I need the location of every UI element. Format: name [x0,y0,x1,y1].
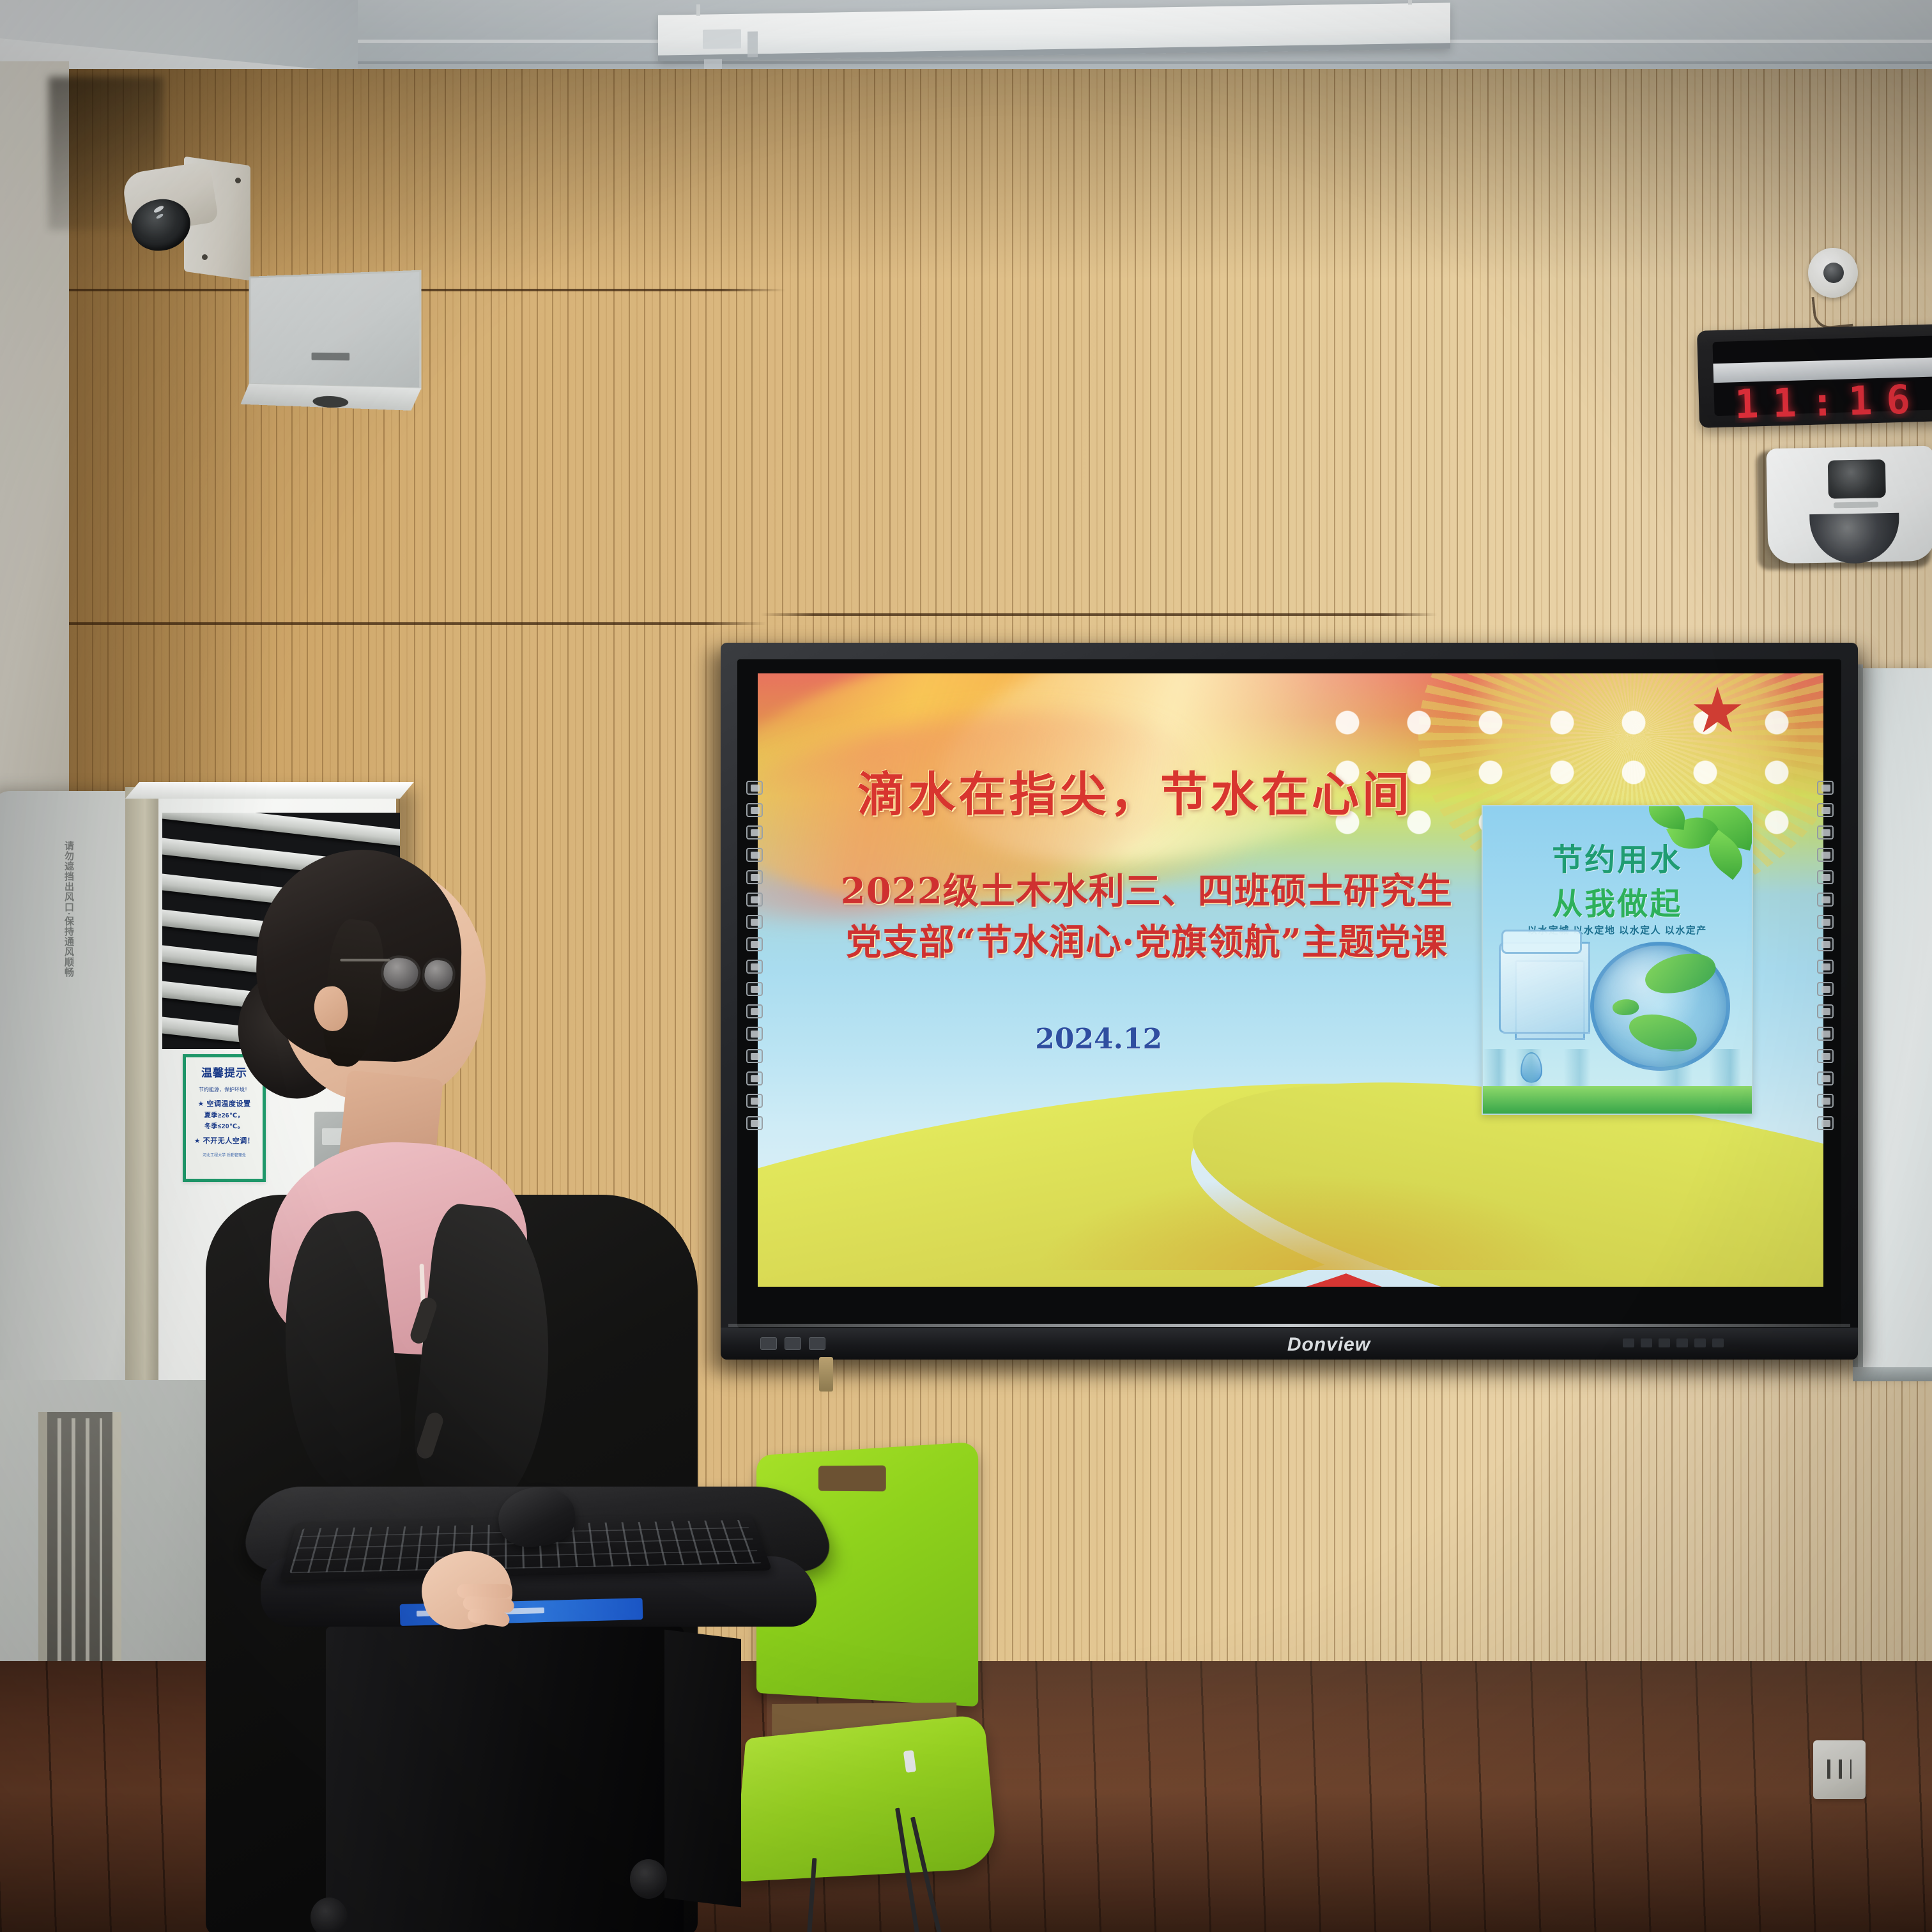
bezel-icon-eraser[interactable] [746,803,763,817]
slide-subtitle-line2: 党支部“节水润心·党旗领航”主题党课 [774,917,1520,969]
bezel-icon-r-pen[interactable] [1817,781,1834,795]
display-port-r-3[interactable] [1659,1338,1670,1347]
motion-sensor-lens [1828,459,1886,499]
bezel-icon-r-page[interactable] [1817,1094,1834,1108]
dome-security-camera [125,152,272,280]
poster-headline-2: 从我做起 [1504,878,1730,923]
display-port-r-1[interactable] [1623,1338,1634,1347]
light-label-primary [703,29,741,49]
glasses-temple [340,959,390,962]
led-clock-time: 11:16 [1734,379,1932,423]
display-port-r-5[interactable] [1694,1338,1706,1347]
light-label-secondary [747,31,758,57]
display-port-r-2[interactable] [1641,1338,1652,1347]
display-screen[interactable]: 滴水在指尖，节水在心间 2022级土木水利三、四班硕士研究生 党支部“节水润心·… [758,673,1823,1287]
slide-title: 滴水在指尖，节水在心间 [794,756,1476,825]
air-conditioner-side-text: 请勿遮挡出风口·保持通风顺畅 [50,841,75,1007]
bezel-icon-r-line-1[interactable] [1817,893,1834,907]
display-key-tag [819,1357,833,1391]
wall-speaker [249,270,422,411]
round-wall-sensor [1808,248,1858,298]
bezel-icon-r-undo[interactable] [1817,1027,1834,1041]
lectern-side-panel [664,1630,741,1908]
display-chin-highlight [728,1324,1850,1327]
display-port-power[interactable] [809,1337,825,1350]
led-wall-clock: 11:16 [1697,323,1932,428]
bezel-icon-r-more[interactable] [1817,1116,1834,1130]
slide-date: 2024.12 [885,1023,1312,1055]
globe-landmass-1 [1641,945,1720,1002]
speaker-logo [312,353,350,361]
motion-sensor [1766,446,1932,564]
display-ports-right[interactable] [1623,1337,1827,1349]
whiteboard-bottom-frame [1853,1367,1932,1381]
display-brand-logo: Donview [1252,1334,1406,1356]
wall-power-outlet[interactable] [1813,1740,1866,1799]
bezel-icon-r-line-2[interactable] [1817,915,1834,929]
glasses-lens-right [420,956,457,994]
poster-faucet-handle [1501,930,1582,954]
bezel-icon-r-eraser[interactable] [1817,803,1834,817]
whiteboard-panel [1858,668,1932,1377]
poster-headline-1: 节约用水 [1504,834,1730,879]
bezel-icon-r-clock[interactable] [1817,1004,1834,1018]
bezel-icon-r-back[interactable] [1817,848,1834,862]
lectern-caster-left [310,1897,348,1932]
speaker-face [249,270,422,390]
bezel-icon-r-line-3[interactable] [1817,937,1834,951]
wall-seam-lower-left [0,622,767,625]
camera-screw-bottom [202,254,208,260]
light-hanger-left [696,4,700,16]
water-conservation-poster: 节约用水 从我做起 以水定城 以水定地 以水定人 以水定产 [1482,805,1753,1115]
motion-sensor-vent [1834,502,1878,508]
display-port-r-4[interactable] [1676,1338,1688,1347]
bezel-icon-select[interactable] [746,825,763,839]
display-port-r-6[interactable] [1712,1338,1724,1347]
globe-landmass-3 [1612,997,1640,1016]
air-conditioner-top [125,782,414,799]
lectern-body [326,1627,684,1932]
bezel-icon-pen[interactable] [746,781,763,795]
bezel-icon-r-shape[interactable] [1817,870,1834,884]
bezel-icon-r-compass[interactable] [1817,1071,1834,1085]
bezel-icon-r-palette[interactable] [1817,982,1834,996]
bezel-icon-r-line-4[interactable] [1817,960,1834,974]
bezel-icon-r-save[interactable] [1817,1049,1834,1063]
presentation-slide: 滴水在指尖，节水在心间 2022级土木水利三、四班硕士研究生 党支部“节水润心·… [758,673,1823,1287]
mobile-lectern[interactable] [249,1476,850,1932]
wall-seam-lower-mid [760,613,1437,616]
slide-subtitle-line1: 2022级土木水利三、四班硕士研究生 [774,866,1520,917]
poster-faucet-spout [1499,942,1590,1034]
motion-sensor-dome [1809,513,1899,564]
bezel-icon-r-select[interactable] [1817,825,1834,839]
poster-grass [1483,1086,1752,1114]
slide-subtitle: 2022级土木水利三、四班硕士研究生 党支部“节水润心·党旗领航”主题党课 [774,866,1520,968]
finger-index [457,1584,512,1598]
poster-leaf-4 [1647,805,1687,830]
classroom-photo: 11:16 [0,0,1932,1932]
lectern-caster-right [630,1859,667,1899]
ribbon-gold-center [1035,1174,1589,1270]
camera-screw-top [235,178,241,183]
display-right-toolbar[interactable] [1812,781,1839,1190]
light-hanger-right [1408,0,1412,4]
